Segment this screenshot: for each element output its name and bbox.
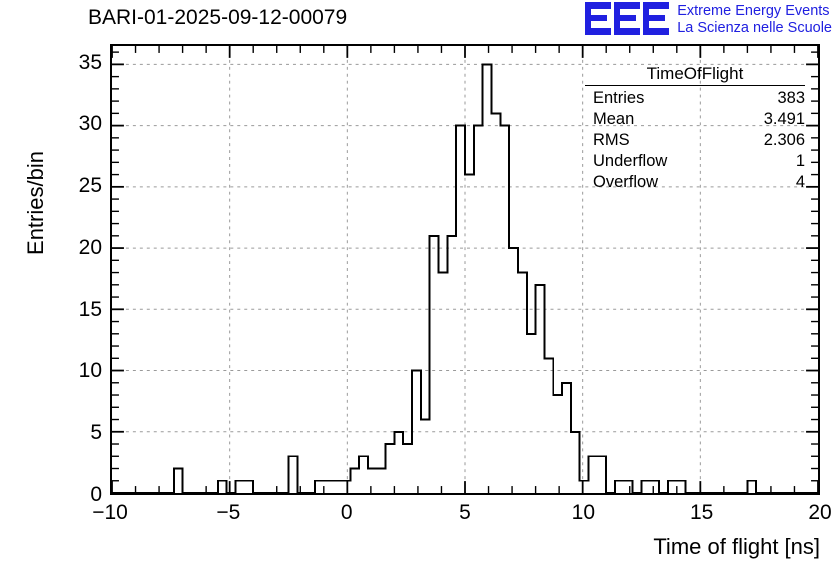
stats-row-label: Underflow (593, 151, 667, 172)
x-tick-label: 5 (459, 501, 471, 525)
y-axis-title: Entries/bin (23, 113, 49, 293)
eee-logo-mark-icon (585, 2, 669, 35)
stats-row: Overflow4 (579, 172, 811, 193)
stats-row-value: 4 (796, 172, 805, 193)
stats-row-value: 1 (796, 151, 805, 172)
stats-title: TimeOfFlight (585, 63, 805, 86)
stats-row-label: RMS (593, 130, 630, 151)
y-tick-label: 35 (52, 51, 102, 75)
stats-row-label: Entries (593, 88, 644, 109)
stats-row-label: Mean (593, 109, 634, 130)
stats-row-value: 2.306 (764, 130, 805, 151)
stats-box: TimeOfFlight Entries383Mean3.491RMS2.306… (579, 63, 811, 193)
y-tick-label: 20 (52, 236, 102, 260)
x-axis-title: Time of flight [ns] (0, 534, 820, 560)
x-tick-label: 20 (808, 501, 831, 525)
y-tick-label: 5 (52, 421, 102, 445)
stats-row: Entries383 (579, 88, 811, 109)
histogram-canvas: BARI-01-2025-09-12-00079 Extreme Energy … (0, 0, 836, 572)
y-tick-label: 15 (52, 298, 102, 322)
y-tick-label: 25 (52, 174, 102, 198)
stats-row: RMS2.306 (579, 130, 811, 151)
y-tick-label: 30 (52, 112, 102, 136)
y-tick-label: 0 (52, 483, 102, 507)
x-tick-label: 15 (690, 501, 713, 525)
y-tick-label: 10 (52, 359, 102, 383)
page-title: BARI-01-2025-09-12-00079 (88, 6, 347, 30)
eee-logo-line2: La Scienza nelle Scuole (677, 20, 832, 37)
x-tick-label: 10 (572, 501, 595, 525)
eee-logo-line1: Extreme Energy Events (677, 3, 832, 20)
eee-logo: Extreme Energy Events La Scienza nelle S… (585, 2, 832, 37)
stats-row-value: 383 (777, 88, 805, 109)
stats-row: Mean3.491 (579, 109, 811, 130)
stats-rows: Entries383Mean3.491RMS2.306Underflow1Ove… (579, 88, 811, 193)
stats-row-value: 3.491 (764, 109, 805, 130)
x-tick-label: −5 (216, 501, 240, 525)
stats-row: Underflow1 (579, 151, 811, 172)
x-tick-label: 0 (341, 501, 353, 525)
stats-row-label: Overflow (593, 172, 658, 193)
